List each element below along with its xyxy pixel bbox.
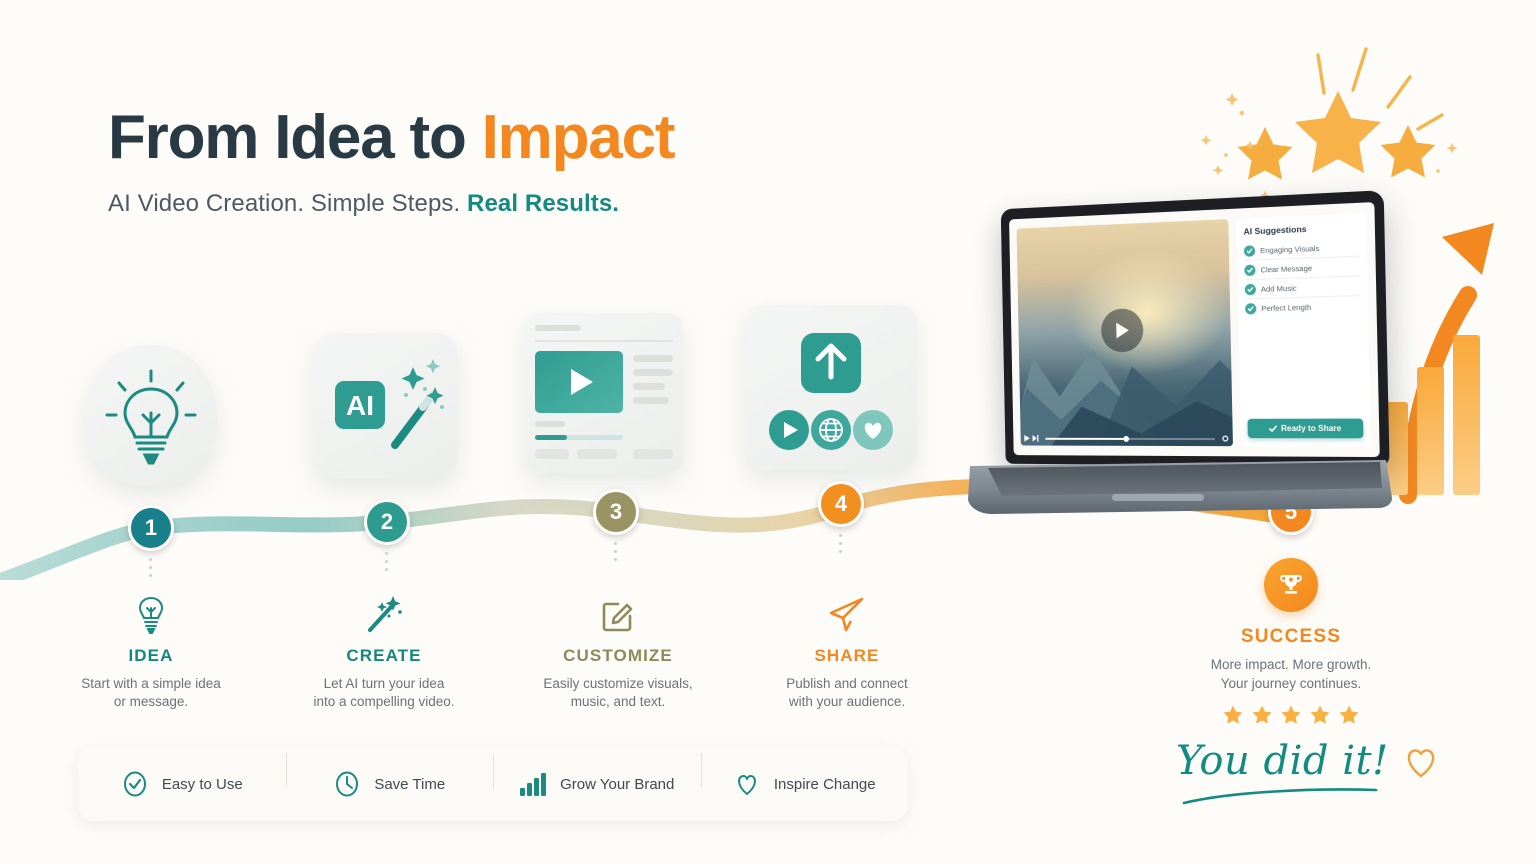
star-small-right-icon	[1381, 125, 1436, 178]
video-play-button[interactable]	[1101, 308, 1144, 352]
step-info-create: CREATE Let AI turn your idea into a comp…	[279, 592, 489, 711]
step-desc-line2: or message.	[114, 694, 188, 709]
laptop-base	[962, 458, 1392, 516]
settings-icon[interactable]	[1222, 435, 1229, 442]
feature-label: Inspire Change	[774, 776, 876, 793]
trophy-icon	[1264, 558, 1318, 612]
title-main: From Idea to	[108, 103, 482, 172]
check-icon	[1244, 264, 1255, 276]
check-icon	[1245, 283, 1256, 294]
heart-icon	[733, 770, 761, 798]
growth-bar-3	[1417, 367, 1444, 495]
page-title: From Idea to Impact	[108, 105, 674, 170]
upload-share-illustration	[745, 305, 917, 470]
page-subtitle: AI Video Creation. Simple Steps. Real Re…	[108, 190, 674, 218]
step-marker-1[interactable]: 1	[128, 505, 174, 551]
step-desc-idea: Start with a simple idea or message.	[46, 675, 256, 711]
laptop-mockup: AI Suggestions Engaging Visuals Clear Me…	[962, 200, 1392, 530]
feature-label: Easy to Use	[162, 776, 243, 793]
subtitle-plain: AI Video Creation. Simple Steps.	[108, 190, 467, 217]
feature-easy-to-use[interactable]: Easy to Use	[78, 770, 286, 798]
bar-chart-icon	[519, 772, 547, 796]
step-desc-create: Let AI turn your idea into a compelling …	[279, 675, 489, 711]
edit-pencil-icon	[513, 592, 723, 634]
step-number-4: 4	[835, 491, 847, 517]
star-icon	[1280, 704, 1302, 726]
laptop-screen-bezel: AI Suggestions Engaging Visuals Clear Me…	[1001, 190, 1390, 466]
play-icon	[1114, 321, 1130, 339]
step-desc-line1: Let AI turn your idea	[324, 676, 445, 691]
step-connector-dots-2	[385, 552, 388, 571]
step-marker-2[interactable]: 2	[364, 499, 410, 545]
video-progress-bar[interactable]	[1045, 437, 1214, 439]
success-desc: More impact. More growth. Your journey c…	[1185, 656, 1397, 694]
step-number-1: 1	[145, 515, 157, 541]
subtitle-accent: Real Results.	[467, 190, 619, 217]
paper-plane-icon	[742, 592, 952, 634]
success-block: SUCCESS More impact. More growth. Your j…	[1185, 558, 1397, 726]
step-connector-dots-1	[149, 558, 152, 577]
handwriting-text: You did it!	[1176, 741, 1389, 781]
step-number-2: 2	[381, 509, 393, 535]
step-desc-line1: Easily customize visuals,	[543, 676, 692, 691]
success-desc-line2: Your journey continues.	[1221, 676, 1362, 691]
check-icon	[1245, 303, 1256, 314]
star-icon	[1222, 704, 1244, 726]
heart-outline-icon	[1399, 739, 1443, 783]
star-icon	[1251, 704, 1273, 726]
handwriting-underline	[1180, 786, 1380, 808]
step-desc-share: Publish and connect with your audience.	[742, 675, 952, 711]
step-info-idea: IDEA Start with a simple idea or message…	[46, 592, 256, 711]
handwriting-block: You did it!	[1176, 739, 1443, 783]
step-label-idea: IDEA	[46, 646, 256, 666]
clock-icon	[333, 770, 361, 798]
feature-save-time[interactable]: Save Time	[286, 770, 494, 798]
title-accent: Impact	[482, 103, 675, 172]
video-player-pane	[1017, 219, 1233, 446]
lightbulb-illustration	[85, 345, 217, 485]
ai-suggestion-label: Perfect Length	[1261, 302, 1311, 312]
step-label-share: SHARE	[742, 646, 952, 666]
ai-badge-text: AI	[346, 390, 374, 421]
video-progress-fill	[1045, 437, 1123, 439]
infographic-canvas: From Idea to Impact AI Video Creation. S…	[0, 0, 1536, 864]
ai-suggestion-label: Add Music	[1261, 283, 1297, 293]
step-connector-dots-4	[839, 534, 842, 553]
step-card-create: AI	[313, 333, 458, 479]
step-connector-dots-3	[614, 542, 617, 561]
step-card-customize	[525, 313, 683, 473]
step-number-3: 3	[610, 499, 622, 525]
check-icon	[1269, 424, 1277, 432]
check-circle-icon	[121, 770, 149, 798]
step-desc-line1: Publish and connect	[786, 676, 908, 691]
step-desc-line2: into a compelling video.	[313, 694, 454, 709]
step-card-idea	[85, 345, 217, 485]
ready-to-share-label: Ready to Share	[1281, 424, 1341, 433]
step-label-create: CREATE	[279, 646, 489, 666]
play-icon[interactable]	[1024, 435, 1030, 442]
step-card-share	[745, 305, 917, 470]
feature-inspire-change[interactable]: Inspire Change	[701, 770, 909, 798]
video-progress-knob[interactable]	[1123, 435, 1129, 441]
step-desc-line2: music, and text.	[571, 694, 666, 709]
success-desc-line1: More impact. More growth.	[1211, 657, 1372, 672]
magic-wand-icon	[279, 592, 489, 634]
step-marker-4[interactable]: 4	[818, 481, 864, 527]
step-label-customize: CUSTOMIZE	[513, 646, 723, 666]
star-icon	[1309, 704, 1331, 726]
skip-next-icon[interactable]	[1033, 435, 1040, 442]
step-info-share: SHARE Publish and connect with your audi…	[742, 592, 952, 711]
star-icon	[1338, 704, 1360, 726]
ai-suggestion-item[interactable]: Perfect Length	[1245, 296, 1361, 317]
step-desc-line1: Start with a simple idea	[81, 676, 221, 691]
laptop-screen: AI Suggestions Engaging Visuals Clear Me…	[1009, 202, 1380, 457]
ai-suggestion-label: Engaging Visuals	[1260, 243, 1319, 254]
ai-suggestions-title: AI Suggestions	[1243, 221, 1359, 236]
success-star-rating	[1185, 704, 1397, 726]
check-icon	[1244, 245, 1255, 257]
ready-to-share-button[interactable]: Ready to Share	[1247, 419, 1363, 439]
video-editor-illustration	[525, 313, 683, 473]
ai-suggestion-label: Clear Message	[1260, 263, 1312, 274]
feature-grow-your-brand[interactable]: Grow Your Brand	[493, 772, 701, 796]
feature-label: Grow Your Brand	[560, 776, 674, 793]
header-block: From Idea to Impact AI Video Creation. S…	[108, 105, 674, 218]
success-label: SUCCESS	[1185, 626, 1397, 648]
ai-suggestions-panel: AI Suggestions Engaging Visuals Clear Me…	[1236, 213, 1371, 447]
step-desc-customize: Easily customize visuals, music, and tex…	[513, 675, 723, 711]
growth-bar-4	[1453, 335, 1480, 495]
lightbulb-icon	[46, 592, 256, 634]
video-thumbnail[interactable]	[1017, 219, 1233, 446]
step-info-customize: CUSTOMIZE Easily customize visuals, musi…	[513, 592, 723, 711]
ai-wand-illustration: AI	[313, 333, 458, 479]
step-desc-line2: with your audience.	[789, 694, 905, 709]
feature-bar: Easy to Use Save Time Grow Your Brand In…	[78, 747, 908, 821]
feature-label: Save Time	[374, 776, 445, 793]
step-marker-3[interactable]: 3	[593, 489, 639, 535]
